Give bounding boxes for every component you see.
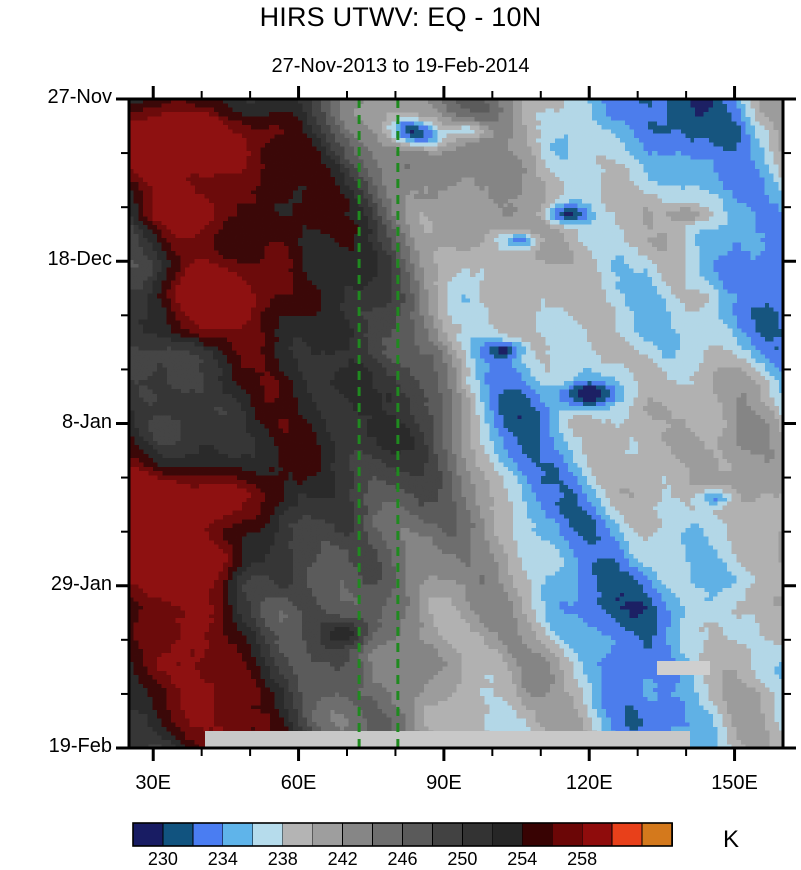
contour-field <box>129 99 784 749</box>
y-tick-label-0: 27-Nov <box>0 86 112 109</box>
figure-root: HIRS UTWV: EQ - 10N 27-Nov-2013 to 19-Fe… <box>0 0 801 863</box>
x-tick-label-4: 150E <box>685 772 785 795</box>
x-tick-label-0: 30E <box>103 772 203 795</box>
hovmoller-plot <box>0 0 801 863</box>
colorbar-unit-label: K <box>723 826 739 854</box>
x-tick-label-2: 90E <box>394 772 494 795</box>
y-tick-label-4: 19-Feb <box>0 735 112 758</box>
y-tick-label-2: 8-Jan <box>0 411 112 434</box>
colorbar-tick-label-7: 258 <box>542 849 622 870</box>
x-tick-label-1: 60E <box>249 772 349 795</box>
colorbar <box>133 823 672 846</box>
x-tick-label-3: 120E <box>539 772 639 795</box>
y-tick-label-3: 29-Jan <box>0 573 112 596</box>
y-tick-label-1: 18-Dec <box>0 248 112 271</box>
